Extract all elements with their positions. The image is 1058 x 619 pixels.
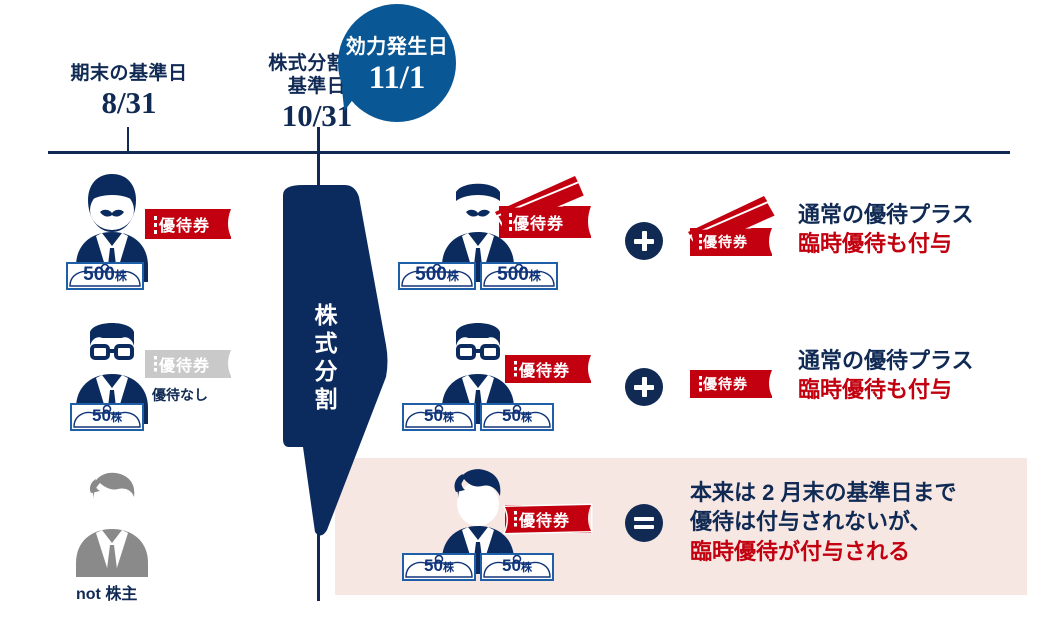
result-text-row1-line1: 通常の優待プラス <box>798 200 974 229</box>
benefit-ticket-row1-after: 優待券 <box>499 206 591 238</box>
share-card-row2-after-2: 50株 <box>480 403 554 431</box>
share-card-row2-before-1-text: 50株 <box>92 407 122 429</box>
share-card-row2-before-1: 50株 <box>70 403 144 431</box>
benefit-ticket-row2-before-label: 優待券 <box>159 352 210 376</box>
share-card-row1-before-1-text: 500株 <box>83 265 127 288</box>
share-card-row1-after-2-text: 500株 <box>497 265 541 288</box>
not-shareholder-note-row3: not 株主 <box>76 580 137 604</box>
stock-split-arrow: 株式分割 <box>283 185 401 537</box>
share-card-row2-after-2-text: 50株 <box>502 407 532 429</box>
result-text-row2-line1: 通常の優待プラス <box>798 346 974 375</box>
benefit-ticket-row1-before: 優待券 <box>145 209 231 239</box>
extra-benefit-ticket-row2: 優待券 <box>690 370 772 398</box>
result-text-row3-line2: 優待は付与されないが、 <box>690 507 956 536</box>
extra-benefit-ticket-row1-label: 優待券 <box>703 232 748 252</box>
operator-plus-row1 <box>625 222 663 260</box>
share-card-row3-after-2-text: 50株 <box>502 557 532 579</box>
share-card-row2-after-1-text: 50株 <box>424 407 454 429</box>
infographic-root: 期末の基準日 8/31 株式分割の 基準日 10/31 効力発生日 11/1 株… <box>0 0 1058 619</box>
benefit-ticket-row2-before-disabled: 優待券 <box>145 350 231 378</box>
benefit-ticket-row1-after-label: 優待券 <box>513 210 564 234</box>
share-card-row3-after-1: 50株 <box>402 553 476 581</box>
share-card-row2-after-1: 50株 <box>402 403 476 431</box>
result-text-row2: 通常の優待プラス 臨時優待も付与 <box>798 346 974 405</box>
share-card-row1-after-1-text: 500株 <box>415 265 459 288</box>
bubble-caption: 効力発生日 <box>338 30 456 59</box>
result-text-row1: 通常の優待プラス 臨時優待も付与 <box>798 200 974 259</box>
stock-split-arrow-label: 株式分割 <box>307 303 341 415</box>
operator-plus-row2 <box>625 368 663 406</box>
result-text-row3-line1: 本来は 2 月末の基準日まで <box>690 478 956 507</box>
no-benefit-note-row2: 優待なし <box>152 385 208 405</box>
benefit-ticket-row2-after-label: 優待券 <box>519 357 570 381</box>
non-shareholder-figure-row3 <box>66 465 158 585</box>
result-text-row3: 本来は 2 月末の基準日まで 優待は付与されないが、 臨時優待が付与される <box>690 478 956 566</box>
extra-benefit-ticket-row2-label: 優待券 <box>703 374 748 394</box>
share-card-row3-after-2: 50株 <box>480 553 554 581</box>
timeline-axis <box>48 151 1010 154</box>
benefit-ticket-row2-after: 優待券 <box>505 355 591 383</box>
timeline-tick-8-31 <box>127 127 129 152</box>
extra-benefit-ticket-row1: 優待券 <box>690 228 772 256</box>
benefit-ticket-row3-after-label: 優待券 <box>519 507 570 531</box>
share-card-row1-before-1: 500株 <box>66 262 144 290</box>
result-text-row1-line2: 臨時優待も付与 <box>798 229 974 258</box>
benefit-ticket-row1-before-label: 優待券 <box>159 212 210 236</box>
operator-equals-row3 <box>625 504 663 542</box>
result-text-row3-line3: 臨時優待が付与される <box>690 537 956 566</box>
share-card-row3-after-1-text: 50株 <box>424 557 454 579</box>
result-text-row2-line2: 臨時優待も付与 <box>798 375 974 404</box>
share-card-row1-after-2: 500株 <box>480 262 558 290</box>
speech-bubble-effective-date: 効力発生日 11/1 <box>338 4 456 122</box>
bubble-date: 11/1 <box>338 61 456 96</box>
share-card-row1-after-1: 500株 <box>398 262 476 290</box>
benefit-ticket-row3-after: 優待券 <box>505 505 591 533</box>
stock-split-arrow-shape <box>283 185 401 537</box>
